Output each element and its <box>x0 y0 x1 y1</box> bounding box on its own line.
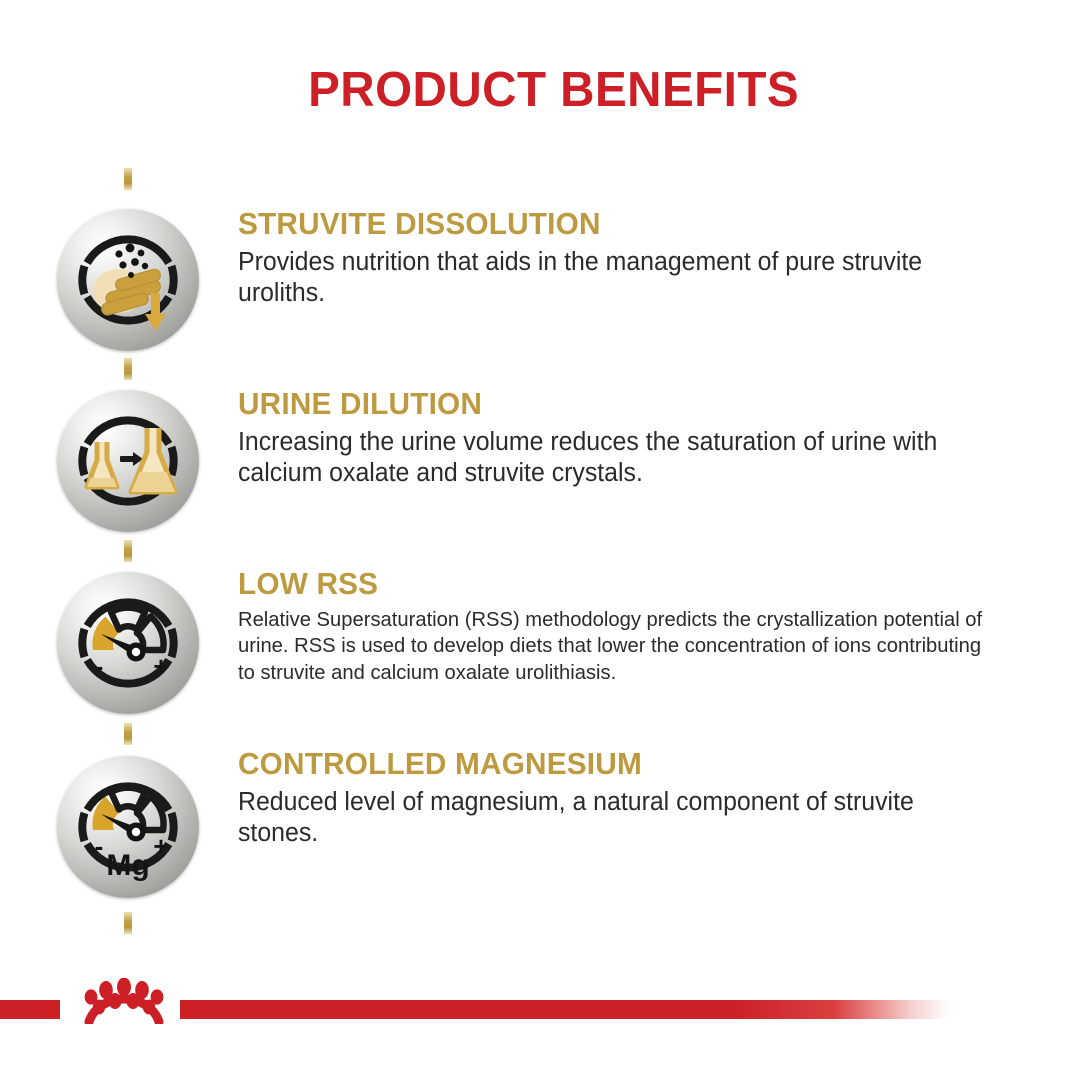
footer <box>0 978 1080 1024</box>
royal-canin-crown-logo <box>72 978 176 1024</box>
footer-bar-left <box>0 1000 60 1019</box>
benefit-body: Provides nutrition that aids in the mana… <box>238 247 979 310</box>
struvite-crystals-dissolving-icon <box>57 209 199 351</box>
benefit-body: Reduced level of magnesium, a natural co… <box>238 787 979 850</box>
benefit-heading: STRUVITE DISSOLUTION <box>238 208 968 241</box>
gauge-plus-label: + <box>153 651 168 681</box>
gauge-plus-label: + <box>153 831 168 861</box>
benefit-text-block: STRUVITE DISSOLUTION Provides nutrition … <box>238 208 998 310</box>
gauge-low-rss-icon: - + <box>57 572 199 714</box>
benefit-text-block: CONTROLLED MAGNESIUM Reduced level of ma… <box>238 748 998 850</box>
benefit-heading: LOW RSS <box>238 568 968 601</box>
gauge-magnesium-icon: - + Mg <box>57 756 199 898</box>
benefits-list: STRUVITE DISSOLUTION Provides nutrition … <box>0 0 1080 1080</box>
benefit-text-block: URINE DILUTION Increasing the urine volu… <box>238 388 998 490</box>
benefit-heading: URINE DILUTION <box>238 388 968 421</box>
benefit-text-block: LOW RSS Relative Supersaturation (RSS) m… <box>238 568 998 686</box>
benefit-heading: CONTROLLED MAGNESIUM <box>238 748 968 781</box>
gauge-minus-label: - <box>95 651 104 681</box>
gauge-minus-label: - <box>95 831 104 861</box>
benefit-body: Increasing the urine volume reduces the … <box>238 427 979 490</box>
two-flasks-urine-dilution-icon <box>57 390 199 532</box>
product-benefits-page: PRODUCT BENEFITS <box>0 0 1080 1080</box>
footer-bar-right <box>180 1000 950 1019</box>
benefit-body: Relative Supersaturation (RSS) methodolo… <box>238 607 987 687</box>
gauge-magnesium-label: Mg <box>106 849 149 882</box>
